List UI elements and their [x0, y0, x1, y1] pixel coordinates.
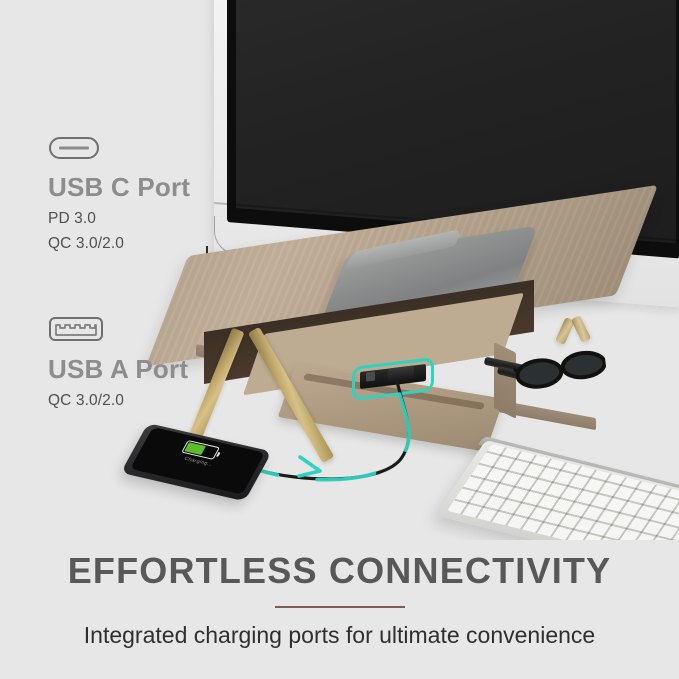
subheadline: Integrated charging ports for ultimate c…	[0, 622, 679, 649]
feature-spec: QC 3.0/2.0	[48, 235, 190, 253]
feature-title: USB C Port	[48, 172, 190, 203]
headline: EFFORTLESS CONNECTIVITY	[0, 550, 679, 592]
product-feature-image: Charging... USB C Port PD 3.0 QC 3.0/2.0…	[0, 0, 679, 679]
feature-title: USB A Port	[48, 354, 188, 385]
usb-a-port-icon	[48, 316, 104, 342]
product-photo: Charging... USB C Port PD 3.0 QC 3.0/2.0…	[0, 0, 679, 540]
feature-spec: QC 3.0/2.0	[48, 392, 188, 410]
feature-usb-c-port: USB C Port PD 3.0 QC 3.0/2.0	[48, 136, 190, 253]
divider	[275, 606, 405, 608]
caption-block: EFFORTLESS CONNECTIVITY Integrated charg…	[0, 540, 679, 679]
feature-usb-a-port: USB A Port QC 3.0/2.0	[48, 316, 188, 410]
feature-spec: PD 3.0	[48, 210, 190, 228]
usb-c-port-icon	[48, 136, 100, 160]
